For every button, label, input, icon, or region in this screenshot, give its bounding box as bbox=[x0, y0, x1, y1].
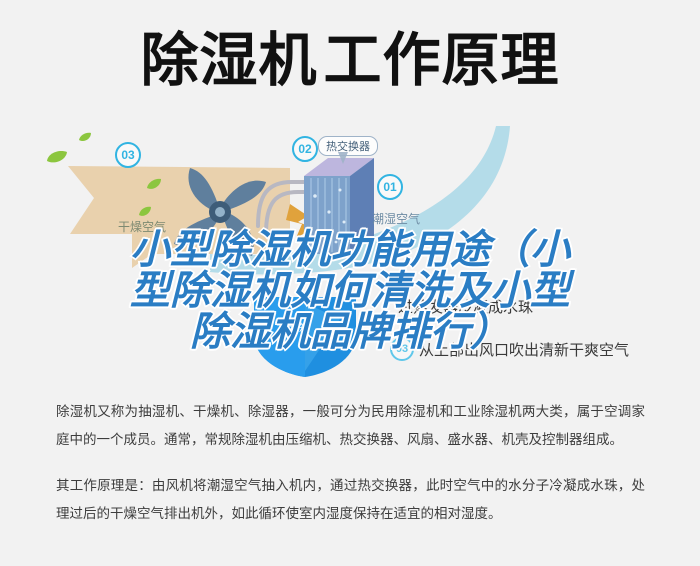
body-paragraph-2: 其工作原理是：由风机将潮湿空气抽入机内，通过热交换器，此时空气中的水分子冷凝成水… bbox=[56, 472, 645, 528]
callout-tail-icon bbox=[338, 152, 348, 164]
page-title-part1: 除湿机 bbox=[140, 28, 317, 93]
water-tank-icon bbox=[250, 297, 360, 377]
working-principle-illustration: 03 02 01 热交换器 干燥空气 潮湿空气 水箱 过蒸发器冷凝成水珠 03 … bbox=[0, 122, 700, 392]
step-3-description: 从上部出风口吹出清新干爽空气 bbox=[419, 339, 629, 360]
label-water-tank: 水箱 bbox=[288, 320, 310, 336]
badge-step-03-bottom: 03 bbox=[390, 337, 414, 361]
badge-step-02: 02 bbox=[292, 136, 318, 162]
step-3-row: 03 从上部出风口吹出清新干爽空气 bbox=[390, 337, 629, 361]
article-body: 除湿机又称为抽湿机、干燥机、除湿器，一般可分为民用除湿机和工业除湿机两大类，属于… bbox=[0, 398, 700, 546]
header-banner: 除湿机工作原理 bbox=[0, 0, 700, 122]
heat-exchanger-callout: 热交换器 bbox=[318, 136, 378, 156]
label-moist-air: 潮湿空气 bbox=[372, 210, 420, 227]
step-2-description: 过蒸发器冷凝成水珠 bbox=[398, 296, 533, 317]
badge-step-01: 01 bbox=[377, 174, 403, 200]
leaf-icon bbox=[78, 132, 92, 144]
heat-exchanger-icon bbox=[300, 152, 378, 262]
badge-step-03: 03 bbox=[115, 142, 141, 168]
body-paragraph-1: 除湿机又称为抽湿机、干燥机、除湿器，一般可分为民用除湿机和工业除湿机两大类，属于… bbox=[56, 398, 645, 454]
page-title-part2: 工作原理 bbox=[324, 28, 560, 93]
page-root: 除湿机工作原理 bbox=[0, 0, 700, 566]
label-dry-air: 干燥空气 bbox=[118, 218, 166, 235]
page-title: 除湿机工作原理 bbox=[140, 32, 559, 90]
leaf-icon bbox=[46, 150, 68, 166]
